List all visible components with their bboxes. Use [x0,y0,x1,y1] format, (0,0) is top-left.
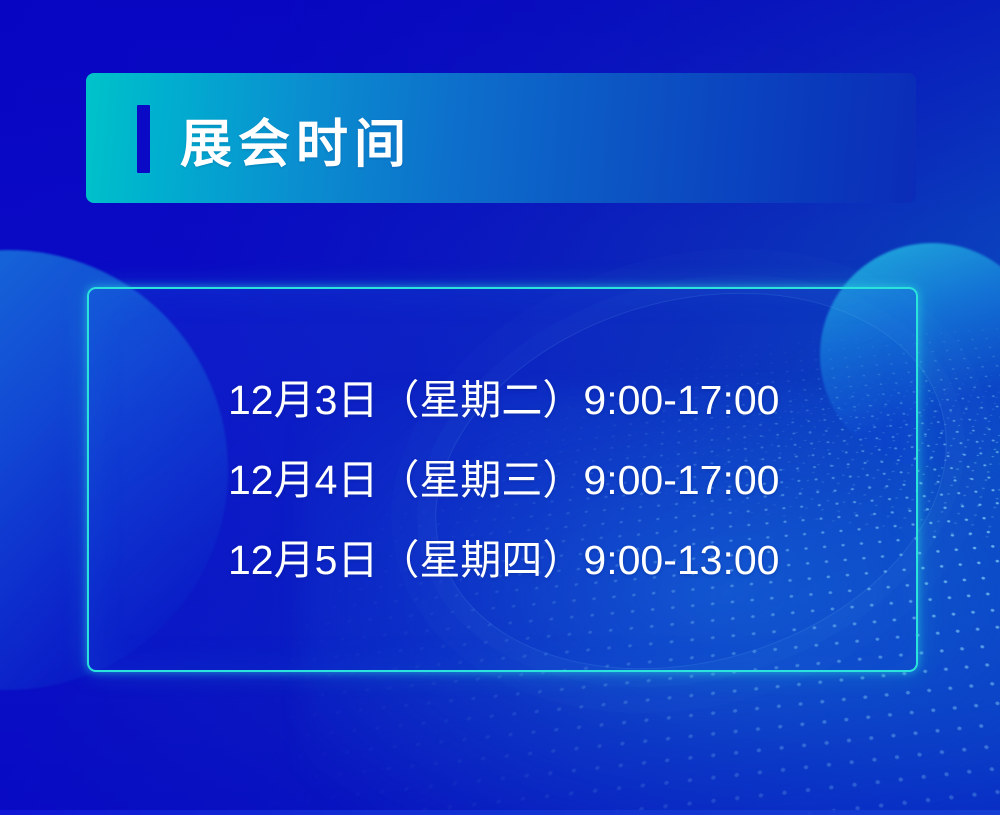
list-item: 12月3日（星期二）9:00-17:00 [228,378,828,422]
poster-canvas: 展会时间 12月3日（星期二）9:00-17:00 12月4日（星期三）9:00… [0,0,1000,815]
bottom-edge-highlight [0,810,1000,815]
list-item: 12月4日（星期三）9:00-17:00 [228,458,828,502]
list-item: 12月5日（星期四）9:00-13:00 [228,538,828,582]
page-title: 展会时间 [180,105,412,173]
header-accent-bar-icon [137,105,150,173]
section-header-bar: 展会时间 [86,73,916,203]
schedule-list: 12月3日（星期二）9:00-17:00 12月4日（星期三）9:00-17:0… [228,287,828,672]
